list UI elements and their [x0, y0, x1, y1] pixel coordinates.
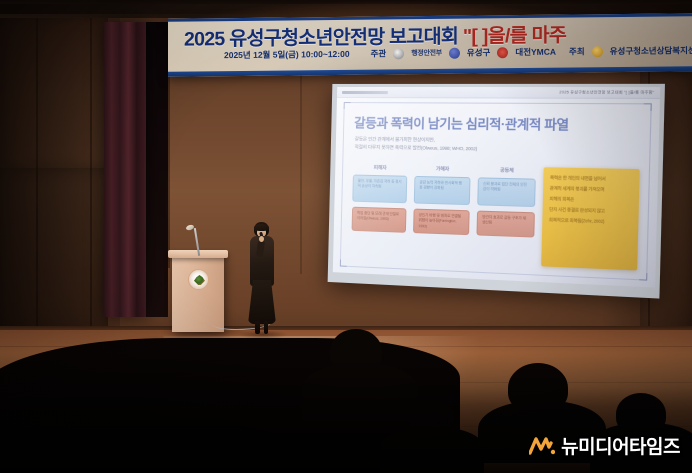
- column-header: 가해자: [436, 165, 449, 172]
- panel-line: 회복적으로 회복됨(Zehr, 2002): [549, 217, 633, 226]
- organizer-ysg: 유성구: [467, 46, 490, 58]
- gov-logo-icon: [393, 48, 404, 59]
- column-red-box: 학업 중단 및 또래 관계 단절로 이어짐(Olweus, 1993): [352, 207, 407, 233]
- stage-wing-gap: [146, 22, 168, 317]
- stage-curtain: [104, 22, 146, 317]
- slide-highlight-panel: 폭력은 한 개인의 내면을 넘어서 관계적 세계의 붕괴를 가져오며 피해의 회…: [541, 167, 640, 270]
- column-red-box: 방관자 효과로 갈등 구조가 재생산됨: [476, 211, 534, 238]
- watermark: 뉴미디어타임즈: [529, 432, 680, 459]
- organizer-gov: 행정안전부: [411, 48, 442, 58]
- speaker-legs: [255, 321, 268, 334]
- panel-line: 피해의 회복은: [549, 196, 633, 204]
- column-red-box: 성인기 비행 및 범죄로 연결될 위험이 높아짐(Farrington, 199…: [413, 209, 470, 236]
- host-label: 주최: [569, 45, 585, 57]
- slide-column: 공동체 신뢰 붕괴로 집단 전체의 안전감이 약화됨 방관자 효과로 갈등 구조…: [476, 166, 536, 266]
- yuseong-logo-icon: [449, 47, 460, 58]
- newmedia-logo-icon: [529, 436, 555, 456]
- slide-subtitle: 갈등은 인간 관계에서 불가피한 현상이지만, 적절히 다루지 못하면 폭력으로…: [354, 135, 638, 156]
- emblem-icon: [188, 269, 209, 290]
- auditorium-scene: 2025 유성구청소년안전망 보고대회 "[ ]을/를 마주 2025년 12월…: [0, 0, 692, 473]
- column-header: 공동체: [500, 166, 514, 174]
- column-blue-box: 불안, 우울, 자존감 저하 등 정서적 손상이 지속됨: [352, 175, 407, 204]
- slide-corner-mark: [639, 273, 647, 281]
- slide-header: 2025 유성구청소년안전망 보고대회 "[ ]을/를 마주함": [337, 87, 660, 99]
- slide-header-logo: [342, 90, 388, 93]
- ymca-logo-icon: [497, 47, 508, 58]
- slide-body: 갈등과 폭력이 남기는 심리적·관계적 파열 갈등은 인간 관계에서 불가피한 …: [340, 102, 652, 281]
- banner-date: 2025년 12월 5일(금) 10:00~12:00: [224, 48, 350, 61]
- slide-corner-mark: [344, 102, 351, 109]
- organizer-ymca: 대전YMCA: [515, 46, 556, 58]
- speaker-coat: [248, 280, 276, 324]
- slide-corner-mark: [644, 103, 652, 111]
- speaker-figure: [244, 222, 280, 334]
- floor-light-reflection: [136, 336, 493, 446]
- host-logo-icon: [592, 46, 603, 57]
- panel-line: 단지 사건 종결로 완성되지 않고: [549, 206, 633, 214]
- event-banner: 2025 유성구청소년안전망 보고대회 "[ ]을/를 마주 2025년 12월…: [168, 13, 692, 76]
- wall-shadow-left: [0, 18, 120, 373]
- speaker-hand: [259, 236, 264, 242]
- organizer-label: 주관: [371, 47, 387, 59]
- slide-title: 갈등과 폭력이 남기는 심리적·관계적 파열: [354, 112, 641, 134]
- slide-columns: 피해자 불안, 우울, 자존감 저하 등 정서적 손상이 지속됨 학업 중단 및…: [351, 163, 640, 270]
- projection-screen: 2025 유성구청소년안전망 보고대회 "[ ]을/를 마주함" 갈등과 폭력이…: [333, 87, 661, 288]
- column-header: 피해자: [374, 164, 387, 171]
- slide-column: 피해자 불안, 우울, 자존감 저하 등 정서적 손상이 지속됨 학업 중단 및…: [351, 163, 408, 260]
- host-name: 유성구청소년상담복지센터: [610, 44, 692, 57]
- speaker-hair-front: [254, 224, 269, 231]
- column-blue-box: 공감 능력 저하와 반사회적 행동 경향이 강화됨: [414, 176, 471, 205]
- slide-header-title: 2025 유성구청소년안전망 보고대회 "[ ]을/를 마주함": [559, 90, 654, 95]
- panel-line: 관계적 세계의 붕괴를 가져오며: [550, 185, 634, 193]
- projection-screen-frame: 2025 유성구청소년안전망 보고대회 "[ ]을/를 마주함" 갈등과 폭력이…: [328, 84, 665, 299]
- slide-corner-mark: [340, 259, 347, 266]
- slide-column: 가해자 공감 능력 저하와 반사회적 행동 경향이 강화됨 성인기 비행 및 범…: [412, 165, 470, 263]
- banner-subtitle: 2025년 12월 5일(금) 10:00~12:00 주관 행정안전부 유성구…: [224, 41, 692, 64]
- panel-line: 폭력은 한 개인의 내면을 넘어서: [550, 175, 634, 183]
- wall-seam: [300, 74, 302, 274]
- column-blue-box: 신뢰 붕괴로 집단 전체의 안전감이 약화됨: [477, 177, 536, 207]
- watermark-text: 뉴미디어타임즈: [561, 432, 680, 459]
